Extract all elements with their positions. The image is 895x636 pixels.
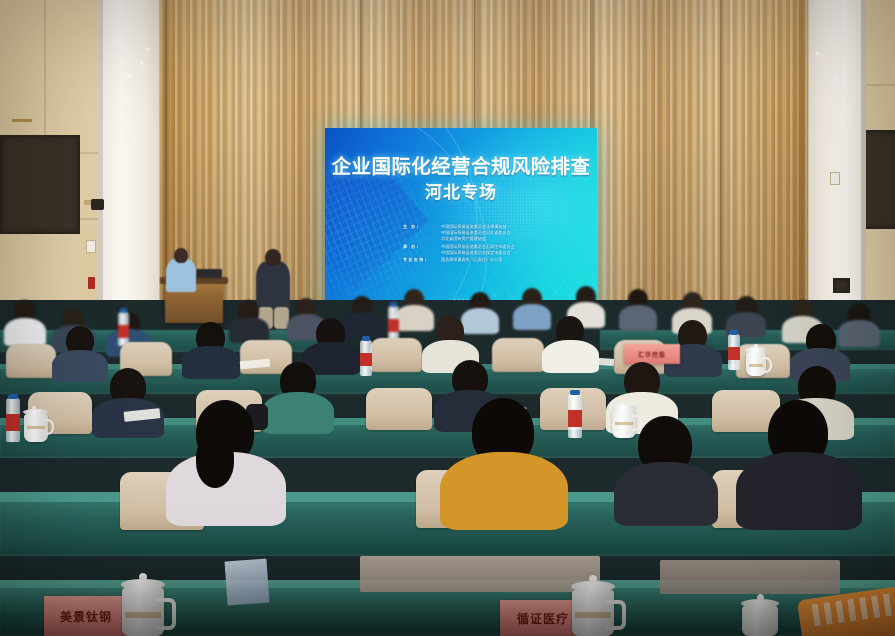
water-bottle: [388, 306, 399, 340]
attendee-body: [52, 350, 108, 382]
teacup: [572, 590, 614, 636]
credit-values: 中国国际贸易促进委员会石家庄市委员会 中国国际贸易促进委员会保定市委员会: [441, 244, 593, 256]
slide-subtitle: 河北专场: [325, 178, 597, 203]
panel-trim: [12, 119, 32, 122]
water-bottle: [360, 340, 372, 376]
chair: [370, 338, 422, 372]
credit-label: 承 办:: [403, 244, 441, 250]
standing-attendee-head: [265, 249, 281, 266]
chair: [492, 338, 544, 372]
teacup: [24, 414, 48, 442]
speaker-body: [166, 258, 196, 292]
slide-title: 企业国际化经营合规风险排查: [325, 150, 597, 179]
teacup: [612, 410, 636, 438]
placard-text: 汇华控股: [638, 350, 666, 359]
wall-switch: [86, 240, 96, 253]
credit-row: 主 办: 中国国际贸易促进委员会法律事务部 中国国际贸易促进委员会河北省委员会 …: [403, 224, 593, 243]
credit-row: 专业支持: 国浩律师事务所（石家庄）办公室: [403, 257, 593, 263]
attendee-body: [4, 318, 46, 346]
water-bottle: [6, 398, 20, 442]
attendee-body: [343, 312, 382, 338]
fire-alarm-icon: [88, 277, 95, 289]
attendee-body: [614, 462, 718, 526]
slide-credits: 主 办: 中国国际贸易促进委员会法律事务部 中国国际贸易促进委员会河北省委员会 …: [403, 224, 593, 264]
wall-switch: [830, 172, 840, 185]
left-marble-column: [98, 0, 164, 330]
placard-text: 美景钛钢: [60, 608, 112, 625]
attendee-body: [736, 452, 862, 530]
name-placard: 汇华控股: [624, 344, 680, 364]
attendee-body: [440, 452, 568, 530]
teacup: [122, 588, 164, 636]
credit-row: 承 办: 中国国际贸易促进委员会石家庄市委员会 中国国际贸易促进委员会保定市委员…: [403, 244, 593, 256]
wall-outlet: [833, 278, 850, 293]
folder-on-table: [660, 560, 840, 594]
conference-photo: 企业国际化经营合规风险排查 河北专场 主 办: 中国国际贸易促进委员会法律事务部…: [0, 0, 895, 636]
chair: [6, 344, 56, 378]
security-camera-icon: [91, 199, 104, 210]
speaker-head: [174, 248, 188, 263]
attendee-body: [838, 320, 880, 347]
name-placard: 美景钛钢: [44, 596, 128, 636]
folder-on-table: [360, 556, 600, 592]
attendee-body: [513, 304, 551, 330]
credit-label: 专业支持:: [403, 257, 441, 263]
water-bottle: [728, 334, 740, 370]
standing-attendee-body: [256, 261, 290, 313]
credit-line: 河北省国有资产管理协会: [441, 236, 593, 242]
attendee-body: [182, 346, 240, 379]
attendee-body: [619, 305, 657, 331]
attendee-body: [461, 308, 499, 334]
attendee-body: [395, 305, 434, 331]
left-side-display-panel: [0, 135, 80, 234]
attendee-body: [262, 392, 334, 434]
placard-text: 循证医疗: [517, 610, 569, 627]
plastic-bag: [225, 559, 270, 606]
credit-line: 国浩律师事务所（石家庄）办公室: [441, 257, 593, 263]
wall-seam: [44, 0, 46, 150]
teacup: [746, 352, 766, 376]
laptop: [196, 269, 222, 278]
credit-label: 主 办:: [403, 224, 441, 230]
water-bottle: [568, 394, 582, 438]
led-presentation-screen: 企业国际化经营合规风险排查 河北专场 主 办: 中国国际贸易促进委员会法律事务部…: [325, 128, 597, 313]
water-bottle: [118, 312, 129, 346]
credit-line: 中国国际贸易促进委员会保定市委员会: [441, 250, 593, 256]
teacup: [742, 606, 778, 636]
chair: [366, 388, 432, 430]
attendee-ponytail: [196, 436, 234, 488]
credit-values: 中国国际贸易促进委员会法律事务部 中国国际贸易促进委员会河北省委员会 河北省国有…: [441, 224, 593, 243]
credit-values: 国浩律师事务所（石家庄）办公室: [441, 257, 593, 263]
